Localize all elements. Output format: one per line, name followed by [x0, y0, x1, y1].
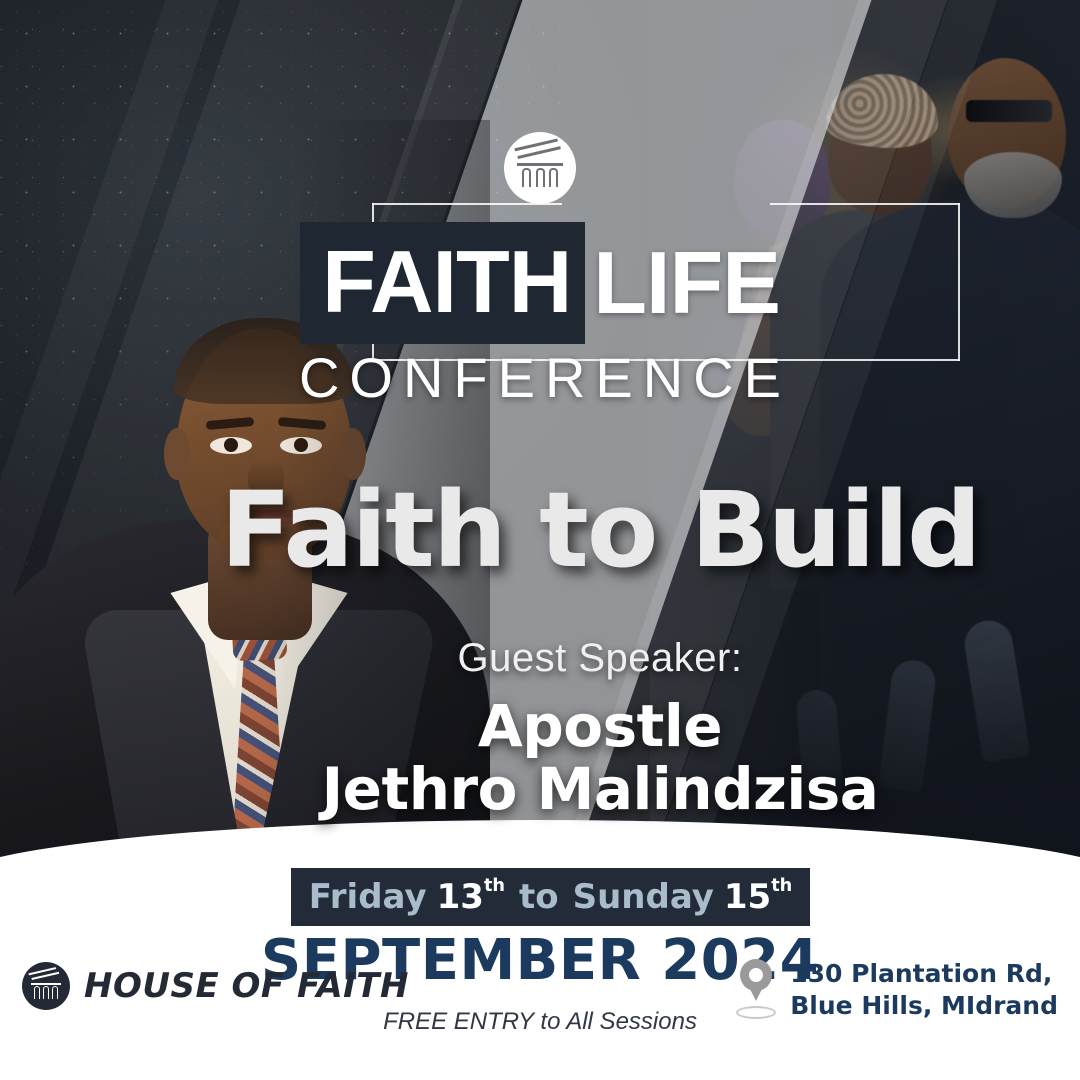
start-day-number: 13	[437, 877, 484, 917]
frame-edge-top-right	[770, 203, 960, 205]
temple-building-icon	[22, 962, 70, 1010]
end-day-number: 15	[724, 877, 771, 917]
end-day-name: Sunday	[573, 877, 714, 917]
start-day-name: Friday	[309, 877, 427, 917]
temple-column-3	[52, 986, 58, 999]
event-poster: FAITH LIFE CONFERENCE Faith to Build Gue…	[0, 0, 1080, 1080]
organization-logo: HOUSE OF FAITH	[22, 962, 409, 1010]
temple-column-1	[522, 168, 531, 187]
venue-address-line1: 130 Plantation Rd,	[790, 958, 1058, 990]
end-day-ordinal: th	[771, 876, 792, 896]
venue-address-line2: Blue Hills, MIdrand	[790, 990, 1058, 1022]
event-dates-banner: Friday 13th to Sunday 15th	[291, 868, 810, 926]
temple-column-3	[549, 168, 558, 187]
page-title: Faith to Build	[0, 478, 1080, 582]
conference-brand-lockup: FAITH LIFE CONFERENCE	[0, 222, 1080, 406]
temple-building-icon	[504, 132, 576, 204]
temple-column-2	[536, 168, 545, 187]
guest-speaker-name: Apostle Jethro Malindzisa	[120, 695, 1080, 820]
guest-speaker-name-line2: Jethro Malindzisa	[120, 758, 1080, 821]
guest-speaker-name-line1: Apostle	[120, 695, 1080, 758]
temple-column-1	[34, 986, 40, 999]
organization-name: HOUSE OF FAITH	[84, 966, 409, 1006]
temple-column-2	[43, 986, 49, 999]
start-day-ordinal: th	[484, 876, 505, 896]
map-pin-icon	[736, 959, 776, 1021]
temple-glyph	[517, 147, 563, 189]
temple-glyph	[31, 972, 61, 1000]
brand-title-row: FAITH LIFE	[300, 222, 780, 344]
guest-speaker-label: Guest Speaker:	[120, 636, 1080, 681]
date-connector: to	[519, 877, 559, 917]
guest-speaker-block: Guest Speaker: Apostle Jethro Malindzisa	[0, 636, 1080, 820]
brand-subtitle-conference: CONFERENCE	[289, 350, 791, 406]
pin-shadow-ellipse	[736, 1006, 776, 1019]
venue-address-text: 130 Plantation Rd, Blue Hills, MIdrand	[790, 958, 1058, 1022]
brand-title-faith: FAITH	[300, 222, 585, 344]
temple-architrave	[517, 163, 563, 166]
brand-title-life: LIFE	[585, 239, 780, 327]
venue-address: 130 Plantation Rd, Blue Hills, MIdrand	[736, 958, 1058, 1022]
